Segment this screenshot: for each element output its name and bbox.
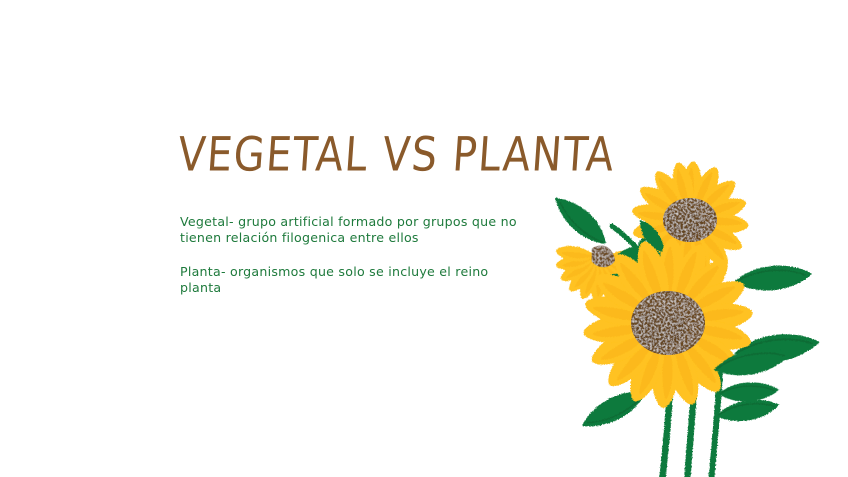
definition-vegetal: Vegetal- grupo artificial formado por gr… (180, 214, 532, 246)
flower-center-top-right (663, 198, 717, 242)
leaf-top-left (554, 186, 607, 256)
definition-planta: Planta- organismos que solo se incluye e… (180, 264, 532, 296)
sunflower-bouquet-illustration (548, 158, 848, 477)
sunflower-svg (548, 158, 848, 477)
leaf-upper-right (733, 254, 812, 302)
body-text-block: Vegetal- grupo artificial formado por gr… (180, 214, 532, 296)
flower-center-large-disc (631, 291, 705, 355)
slide-canvas: VEGETAL VS PLANTA Vegetal- grupo artific… (0, 0, 848, 477)
